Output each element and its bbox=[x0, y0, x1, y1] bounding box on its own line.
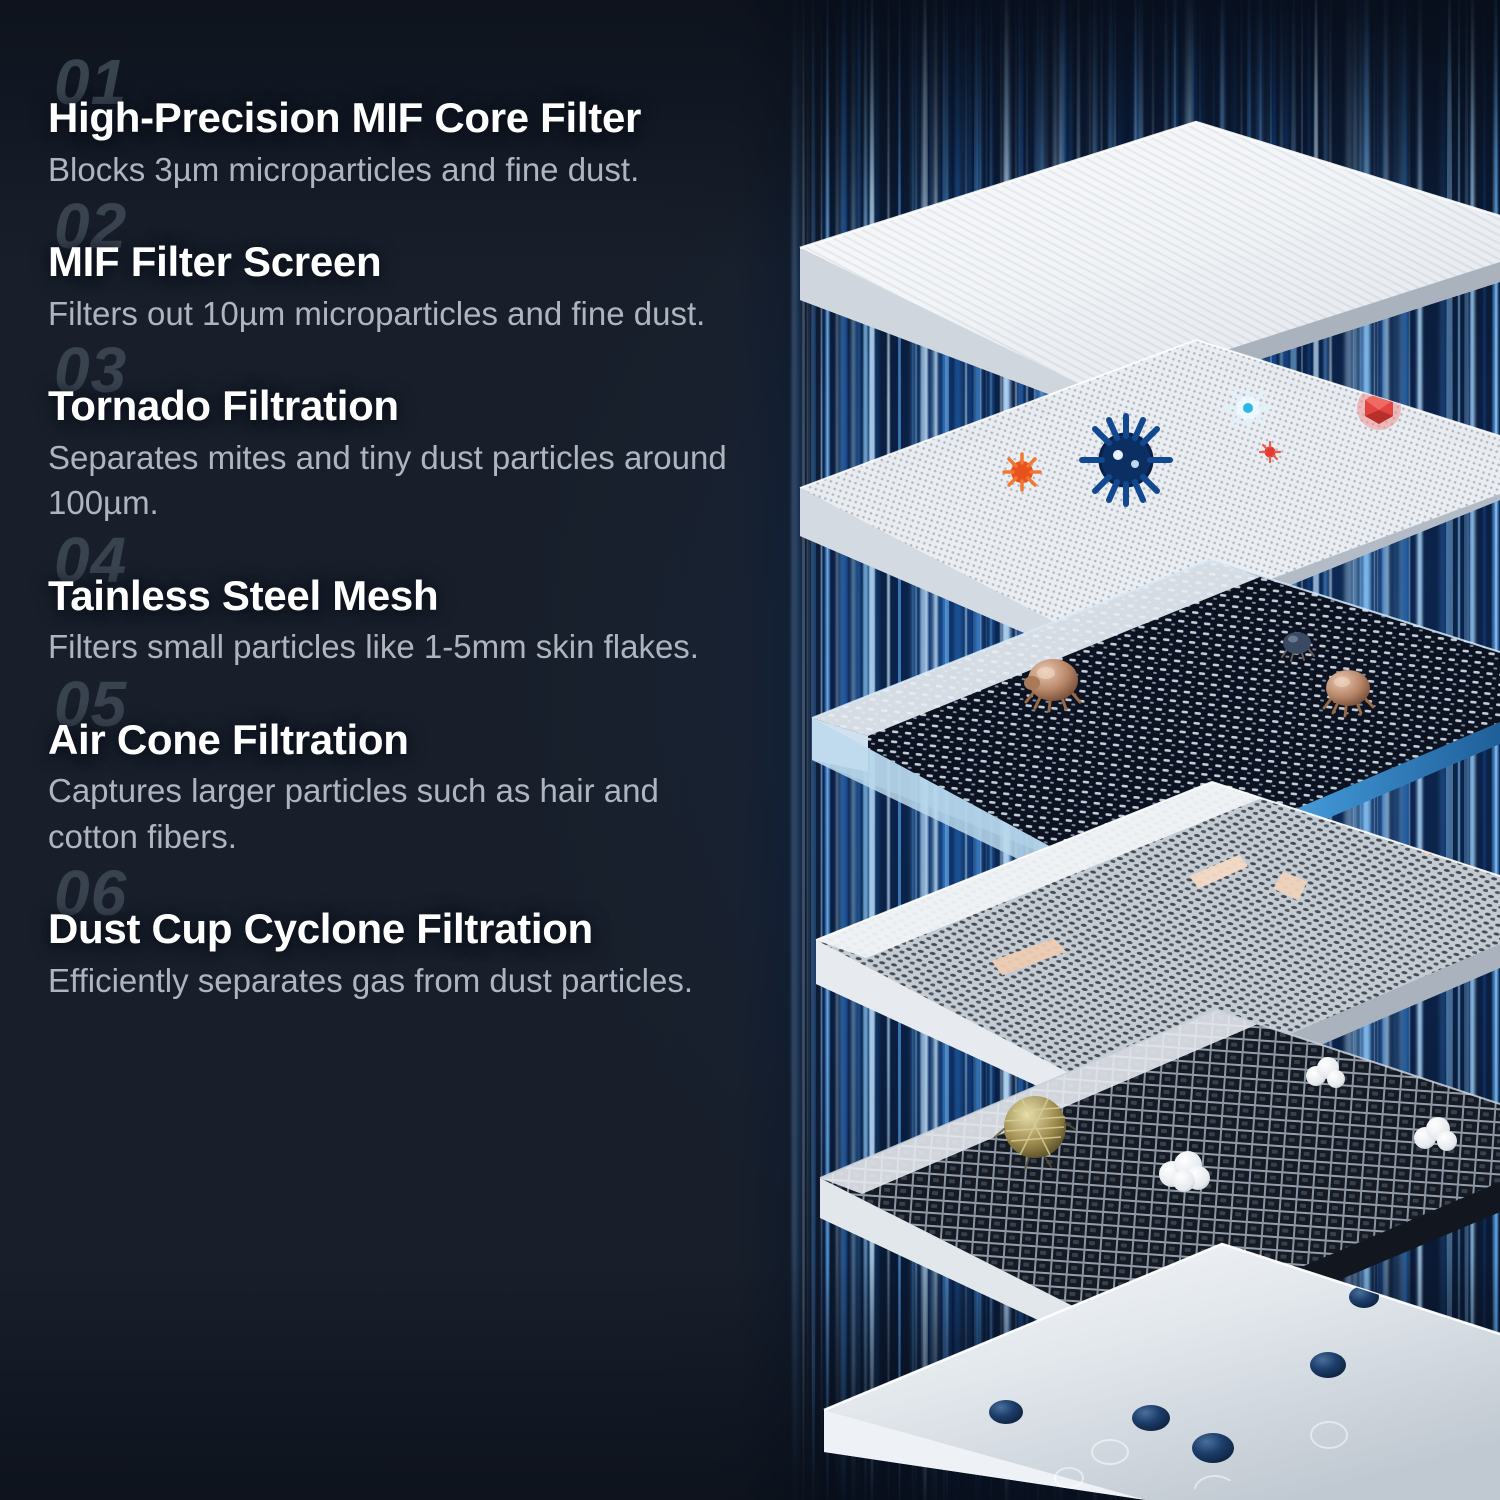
step-item-5: 05 Air Cone Filtration Captures larger p… bbox=[48, 718, 788, 860]
airflow-light-streaks bbox=[790, 0, 1500, 1500]
step-item-6: 06 Dust Cup Cyclone Filtration Efficient… bbox=[48, 907, 788, 1003]
step-title-2: MIF Filter Screen bbox=[48, 240, 788, 285]
step-desc-2: Filters out 10µm microparticles and fine… bbox=[48, 291, 748, 337]
step-title-3: Tornado Filtration bbox=[48, 384, 788, 429]
step-desc-6: Efficiently separates gas from dust part… bbox=[48, 958, 748, 1004]
step-item-3: 03 Tornado Filtration Separates mites an… bbox=[48, 384, 788, 526]
step-item-2: 02 MIF Filter Screen Filters out 10µm mi… bbox=[48, 240, 788, 336]
step-title-1: High-Precision MIF Core Filter bbox=[48, 96, 788, 141]
step-desc-4: Filters small particles like 1-5mm skin … bbox=[48, 624, 748, 670]
step-desc-1: Blocks 3µm microparticles and fine dust. bbox=[48, 147, 748, 193]
step-desc-5: Captures larger particles such as hair a… bbox=[48, 768, 748, 859]
step-desc-3: Separates mites and tiny dust particles … bbox=[48, 435, 748, 526]
step-title-5: Air Cone Filtration bbox=[48, 718, 788, 763]
infographic-canvas: 01 High-Precision MIF Core Filter Blocks… bbox=[0, 0, 1500, 1500]
step-title-4: Tainless Steel Mesh bbox=[48, 574, 788, 619]
step-title-6: Dust Cup Cyclone Filtration bbox=[48, 907, 788, 952]
filtration-steps-list: 01 High-Precision MIF Core Filter Blocks… bbox=[48, 96, 788, 1003]
step-item-4: 04 Tainless Steel Mesh Filters small par… bbox=[48, 574, 788, 670]
step-item-1: 01 High-Precision MIF Core Filter Blocks… bbox=[48, 96, 788, 192]
